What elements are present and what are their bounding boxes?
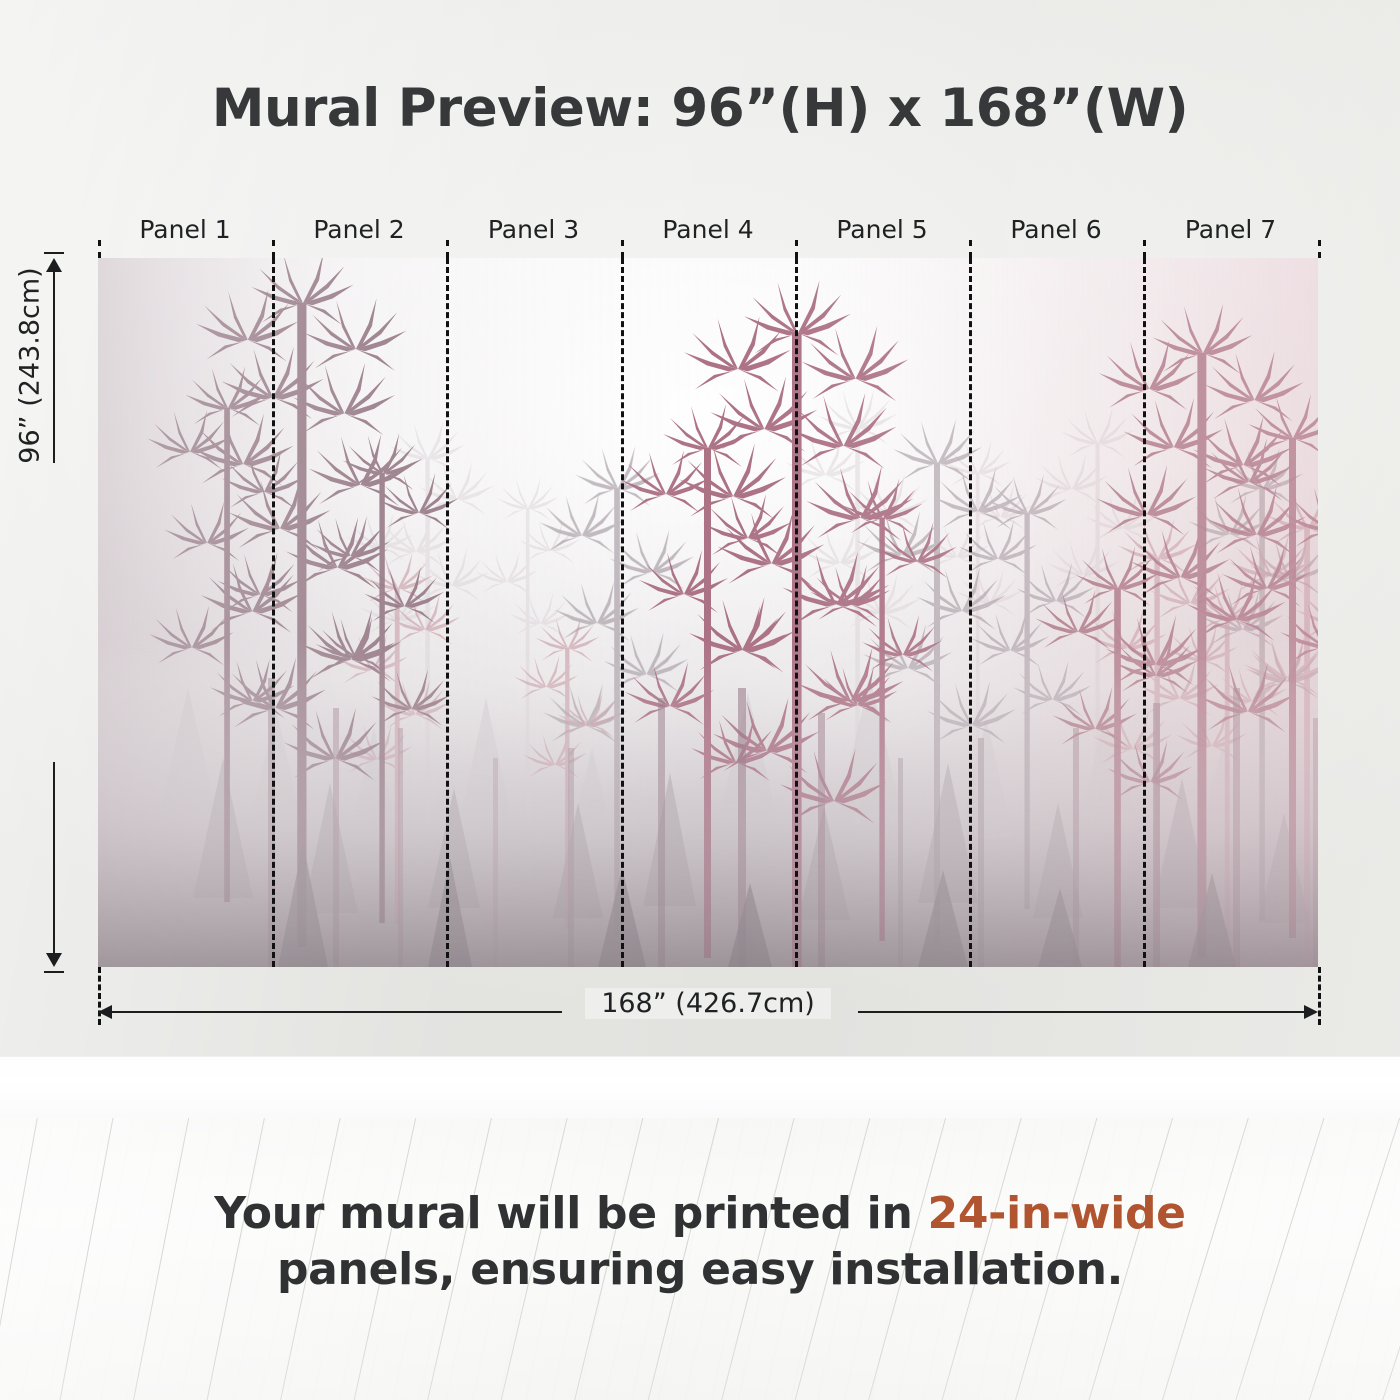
height-tick-bottom <box>44 971 64 973</box>
baseboard <box>0 1056 1400 1118</box>
mural-preview-scene: Mural Preview: 96”(H) x 168”(W) <box>0 0 1400 1400</box>
page-title: Mural Preview: 96”(H) x 168”(W) <box>0 78 1400 139</box>
caption-line-1-text: Your mural will be printed in <box>214 1188 927 1239</box>
panel-divider <box>621 258 624 967</box>
panel-divider <box>446 258 449 967</box>
height-dimension-label: 96” (243.8cm) <box>15 266 46 466</box>
height-tick-top <box>44 252 64 254</box>
dimension-shaft-upper <box>53 268 55 463</box>
caption-line-1: Your mural will be printed in 24-in-wide <box>0 1186 1400 1242</box>
panel-divider <box>969 258 972 967</box>
mural-preview-area <box>98 258 1318 967</box>
width-dimension-text: 168” (426.7cm) <box>585 988 831 1019</box>
panel-label-6: Panel 6 <box>969 215 1143 244</box>
height-dimension <box>52 258 56 967</box>
panel-divider <box>1143 258 1146 967</box>
installation-caption: Your mural will be printed in 24-in-wide… <box>0 1186 1400 1299</box>
panel-divider <box>795 258 798 967</box>
arrow-down-icon <box>46 953 62 967</box>
panel-label-2: Panel 2 <box>272 215 446 244</box>
panel-label-7: Panel 7 <box>1143 215 1318 244</box>
panel-label-1: Panel 1 <box>98 215 272 244</box>
panel-label-3: Panel 3 <box>446 215 621 244</box>
right-guide-line <box>1318 967 1321 1025</box>
caption-line-2: panels, ensuring easy installation. <box>0 1242 1400 1298</box>
width-dimension-label: 168” (426.7cm) <box>98 988 1318 1019</box>
panel-divider-extension <box>1318 240 1321 258</box>
panel-divider <box>272 258 275 967</box>
caption-accent-text: 24-in-wide <box>928 1188 1186 1239</box>
forest-artwork-svg <box>98 258 1318 967</box>
mural-artwork <box>98 258 1318 967</box>
panel-label-4: Panel 4 <box>621 215 795 244</box>
arrow-up-icon <box>46 258 62 272</box>
panel-label-5: Panel 5 <box>795 215 969 244</box>
dimension-shaft-lower <box>53 762 55 957</box>
